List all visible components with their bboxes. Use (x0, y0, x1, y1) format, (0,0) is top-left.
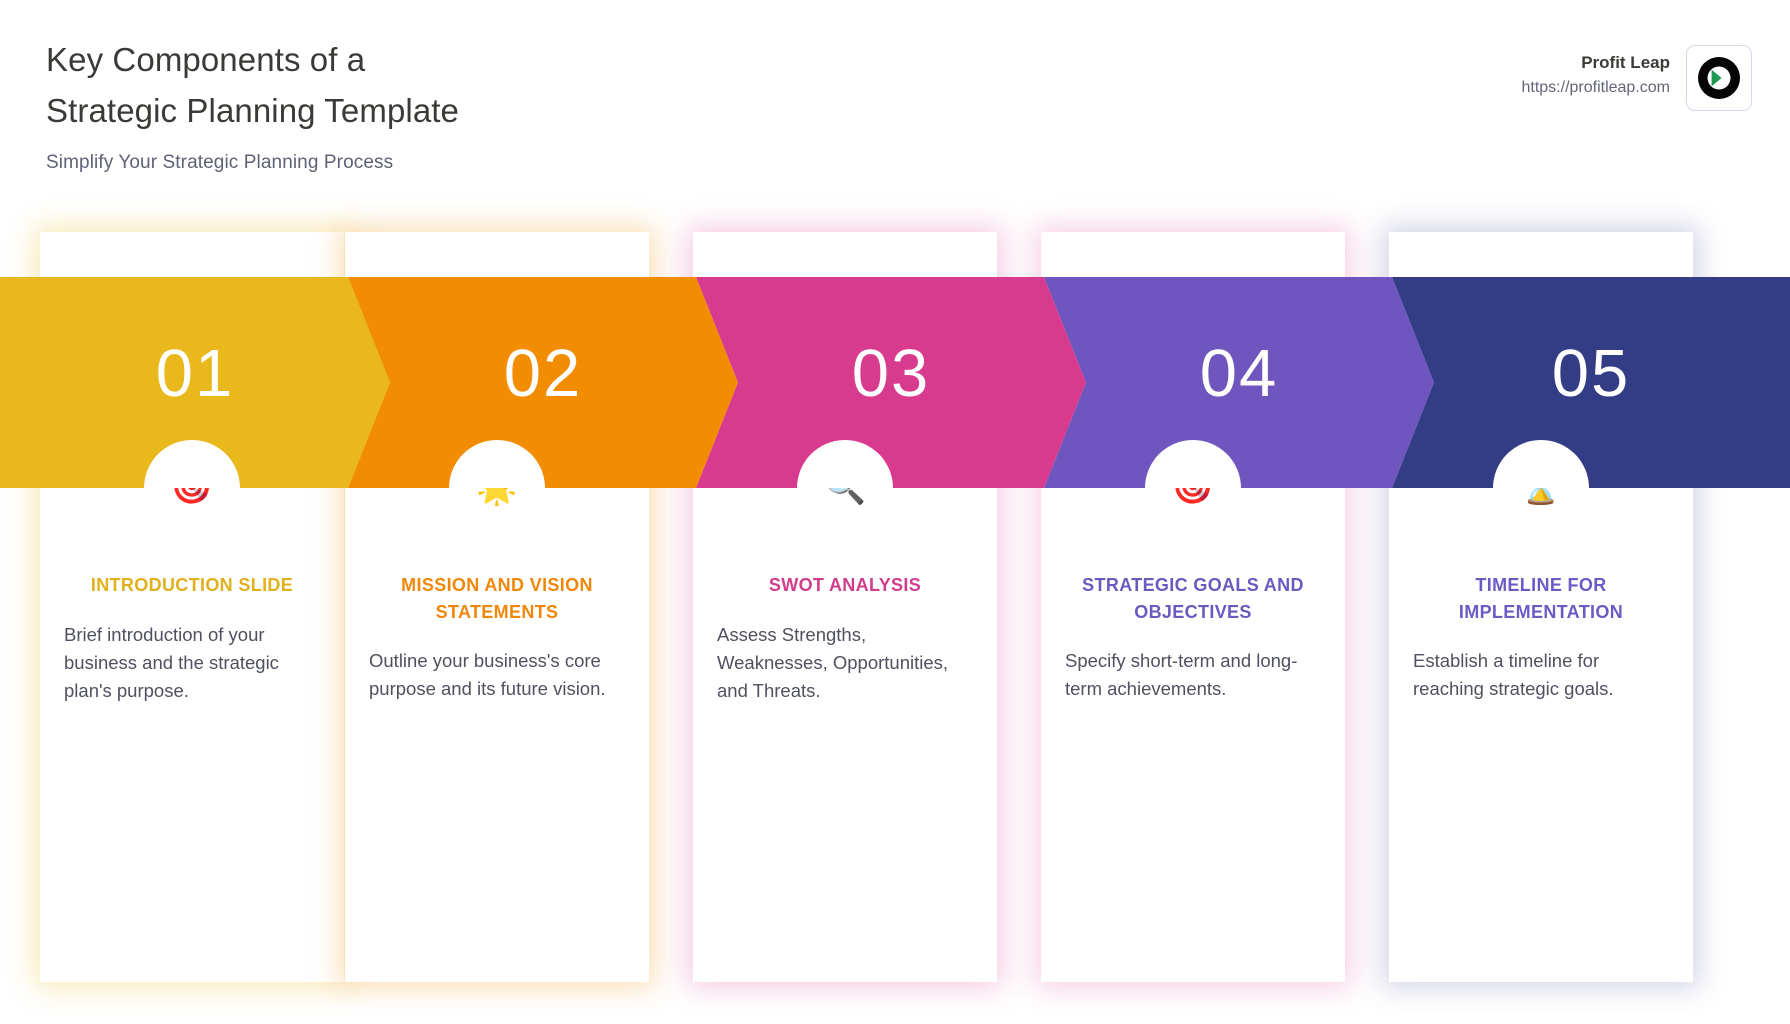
page-header: Key Components of a Strategic Planning T… (0, 0, 1790, 200)
hourglass-icon: ⌛ (1411, 470, 1671, 510)
step-card-content: ⌛ Timeline for Implementation Establish … (1389, 470, 1693, 703)
step-card-content: 🌟 Mission and Vision Statements Outline … (345, 470, 649, 703)
step-card-heading: Timeline for Implementation (1411, 572, 1671, 625)
step-card-heading: Strategic Goals and Objectives (1063, 572, 1323, 625)
step-card-content: 🎯 Strategic Goals and Objectives Specify… (1041, 470, 1345, 703)
brand-name: Profit Leap (1521, 51, 1670, 76)
page-title-line-1: Key Components of a (46, 34, 459, 85)
step-card[interactable]: 🔍 SWOT Analysis Assess Strengths, Weakne… (693, 232, 997, 982)
step-card[interactable]: 🎯 Introduction Slide Brief introduction … (40, 232, 344, 982)
step-card-body: Brief introduction of your business and … (62, 621, 322, 705)
page-title: Key Components of a Strategic Planning T… (46, 34, 459, 136)
step-card-body: Assess Strengths, Weaknesses, Opportunit… (715, 621, 975, 705)
brand-block: Profit Leap https://profitleap.com (1521, 45, 1752, 111)
page-subtitle: Simplify Your Strategic Planning Process (46, 152, 393, 174)
brand-url[interactable]: https://profitleap.com (1521, 76, 1670, 99)
step-card-content: 🔍 SWOT Analysis Assess Strengths, Weakne… (693, 470, 997, 705)
step-card-content: 🎯 Introduction Slide Brief introduction … (40, 470, 344, 705)
step-card-body: Establish a timeline for reaching strate… (1411, 647, 1671, 703)
step-card-body: Outline your business's core purpose and… (367, 647, 627, 703)
step-card[interactable]: ⌛ Timeline for Implementation Establish … (1389, 232, 1693, 982)
step-card-heading: Mission and Vision Statements (367, 572, 627, 625)
step-card-body: Specify short-term and long-term achieve… (1063, 647, 1323, 703)
step-cards-container: 🎯 Introduction Slide Brief introduction … (0, 232, 1790, 987)
glowing-star-icon: 🌟 (367, 470, 627, 510)
page-title-line-2: Strategic Planning Template (46, 85, 459, 136)
play-circle-logo-icon[interactable] (1686, 45, 1752, 111)
step-card-heading: Introduction Slide (62, 572, 322, 599)
dart-target-icon: 🎯 (62, 470, 322, 510)
dart-target-icon: 🎯 (1063, 470, 1323, 510)
brand-text: Profit Leap https://profitleap.com (1521, 45, 1670, 99)
step-card[interactable]: 🎯 Strategic Goals and Objectives Specify… (1041, 232, 1345, 982)
magnifying-glass-icon: 🔍 (715, 470, 975, 510)
step-card-heading: SWOT Analysis (715, 572, 975, 599)
step-card[interactable]: 🌟 Mission and Vision Statements Outline … (345, 232, 649, 982)
